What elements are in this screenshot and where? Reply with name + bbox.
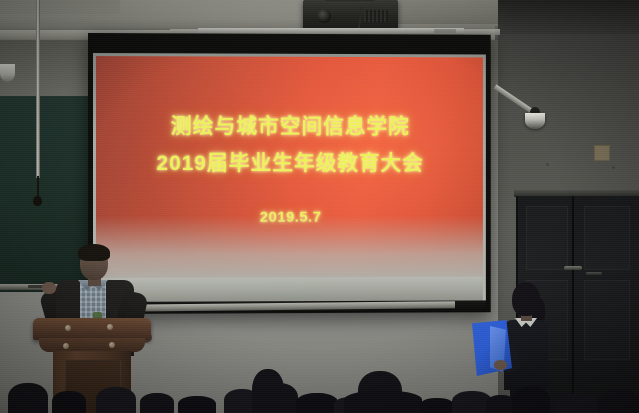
podium-stud — [65, 325, 71, 331]
slide-brightness-falloff — [96, 215, 483, 277]
audience-head — [420, 398, 454, 413]
hanging-pole — [36, 0, 40, 178]
audience-head-tall — [252, 369, 284, 413]
dome-camera-icon — [525, 113, 545, 129]
audience-shoulders — [344, 391, 422, 413]
audience-head — [598, 389, 639, 413]
projected-slide: 测绘与城市空间信息学院 2019届毕业生年级教育大会 2019.5.7 — [96, 56, 483, 278]
audience-head — [556, 393, 598, 413]
slide-title-line-2: 2019届毕业生年级教育大会 — [156, 153, 423, 174]
door-handle-icon[interactable] — [564, 266, 582, 270]
audience-head — [178, 396, 216, 413]
audience-head — [512, 387, 550, 413]
audience-head — [140, 393, 174, 413]
speaker-hair — [78, 244, 110, 261]
door-panel — [526, 206, 568, 270]
projection-screen: 测绘与城市空间信息学院 2019届毕业生年级教育大会 2019.5.7 — [88, 33, 491, 314]
pole-knob — [33, 196, 42, 206]
podium-stud — [107, 324, 113, 330]
pole-cord — [37, 176, 39, 198]
assistant-hair — [512, 282, 540, 316]
speaker-left-hand — [42, 282, 56, 294]
wall-plate — [594, 145, 610, 161]
door-handle-secondary-icon[interactable] — [586, 272, 602, 275]
wall-screw — [612, 166, 615, 169]
wall-screw — [546, 163, 549, 166]
screen-blank-band — [96, 277, 483, 302]
audience-head — [8, 383, 48, 413]
audience-head — [96, 387, 136, 413]
audience-head — [296, 393, 338, 413]
projector-lens-icon — [317, 9, 331, 23]
projector-vent — [364, 10, 388, 22]
lecture-hall-photo: 测绘与城市空间信息学院 2019届毕业生年级教育大会 2019.5.7 — [0, 0, 639, 413]
ceiling-lamp — [0, 64, 15, 82]
audience-head — [52, 391, 86, 413]
wall-right-upper — [498, 0, 639, 34]
ceiling-slab-secondary — [0, 0, 120, 14]
slide-title-line-1: 测绘与城市空间信息学院 — [171, 116, 410, 137]
door-panel — [584, 206, 630, 270]
audience-silhouettes — [0, 343, 639, 413]
screen-surface: 测绘与城市空间信息学院 2019届毕业生年级教育大会 2019.5.7 — [93, 53, 486, 302]
projector-mount — [325, 0, 375, 1]
screen-brand-logo — [434, 29, 456, 33]
podium-top-surface — [33, 318, 151, 340]
